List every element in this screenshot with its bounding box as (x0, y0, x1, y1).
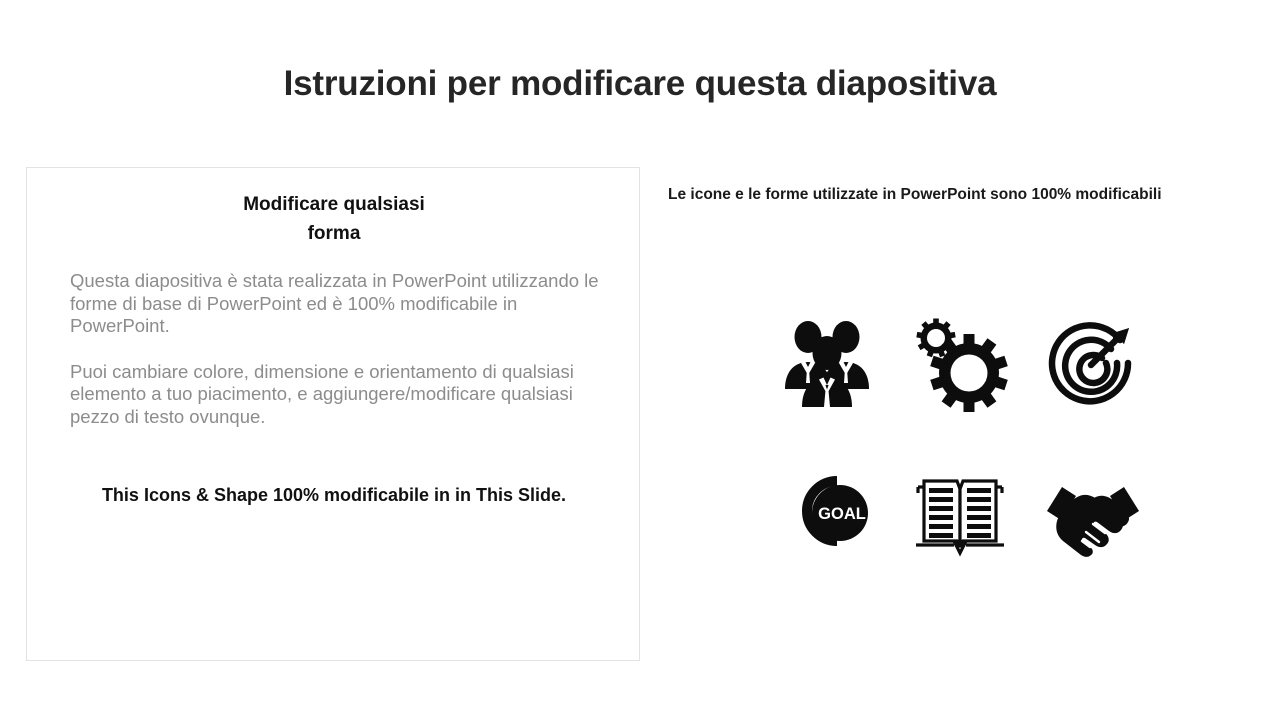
handshake-icon[interactable] (1033, 453, 1153, 573)
panel-heading-line1: Modificare qualsiasi (243, 194, 425, 215)
gears-icon[interactable] (900, 303, 1020, 423)
panel-heading-line2: forma (27, 219, 641, 248)
page-title: Istruzioni per modificare questa diaposi… (0, 64, 1280, 104)
panel-paragraph-2: Puoi cambiare colore, dimensione e orien… (70, 361, 600, 429)
panel-heading: Modificare qualsiasi forma (27, 190, 641, 248)
goal-circles-icon[interactable]: GOAL (767, 453, 887, 573)
panel-footer-note: This Icons & Shape 100% modificabile in … (27, 485, 641, 506)
panel-body-text: Questa diapositiva è stata realizzata in… (70, 270, 600, 428)
open-book-icon[interactable] (900, 453, 1020, 573)
target-arrow-icon[interactable] (1033, 303, 1153, 423)
team-people-icon[interactable] (767, 303, 887, 423)
icons-section-heading: Le icone e le forme utilizzate in PowerP… (668, 186, 1248, 204)
panel-paragraph-1: Questa diapositiva è stata realizzata in… (70, 270, 600, 338)
goal-icon-label: GOAL (818, 505, 866, 523)
icon-gallery: GOAL (760, 288, 1160, 588)
instructions-panel: Modificare qualsiasi forma Questa diapos… (26, 167, 640, 661)
